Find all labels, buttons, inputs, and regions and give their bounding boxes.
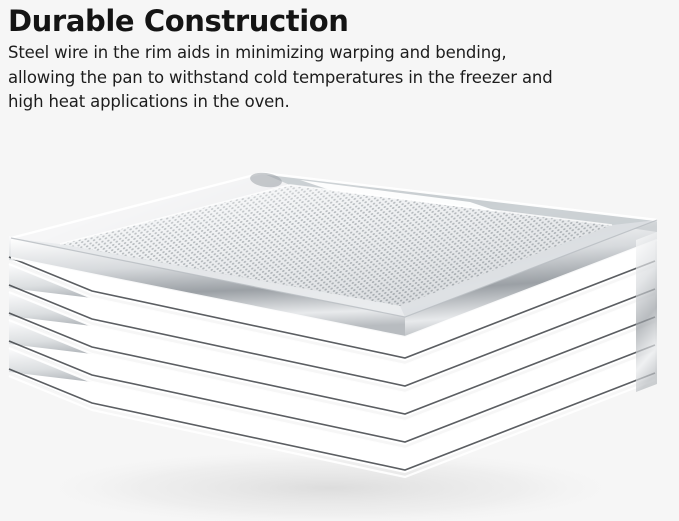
stack-right-cap: [636, 232, 657, 392]
product-feature-panel: Durable Construction Steel wire in the r…: [0, 0, 679, 521]
description-line: high heat applications in the oven.: [8, 90, 648, 115]
product-photo: [0, 140, 679, 521]
baking-pan-stack-illustration: [0, 140, 679, 521]
description-line: Steel wire in the rim aids in minimizing…: [8, 41, 648, 66]
description-line: allowing the pan to withstand cold tempe…: [8, 66, 648, 91]
page-title: Durable Construction: [8, 4, 648, 38]
feature-text-block: Durable Construction Steel wire in the r…: [8, 4, 648, 115]
feature-description: Steel wire in the rim aids in minimizing…: [8, 41, 648, 115]
